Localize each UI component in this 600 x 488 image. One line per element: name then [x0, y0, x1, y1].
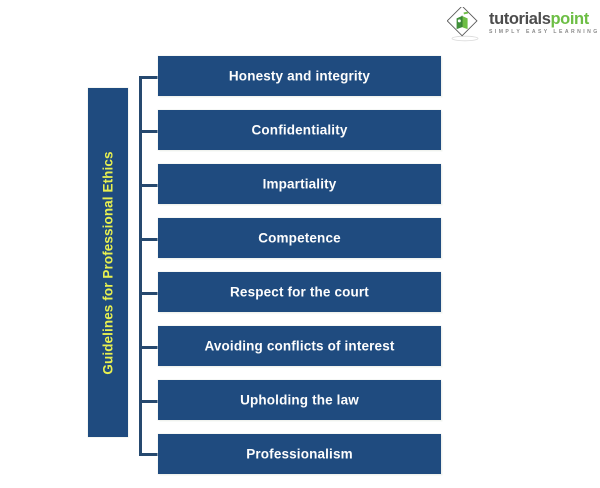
category-bar: Guidelines for Professional Ethics	[88, 88, 128, 437]
connector-stub	[139, 346, 159, 349]
guideline-list: Honesty and integrity Confidentiality Im…	[158, 56, 441, 488]
diamond-book-icon	[447, 7, 483, 43]
guideline-item[interactable]: Avoiding conflicts of interest	[158, 326, 441, 366]
guideline-item[interactable]: Professionalism	[158, 434, 441, 474]
logo-tagline: SIMPLY EASY LEARNING	[489, 28, 595, 36]
logo-wordmark-text: tutorialspoint	[489, 11, 595, 28]
guideline-item-label: Upholding the law	[158, 393, 441, 408]
connector-stub	[139, 453, 159, 456]
connector-stub	[139, 130, 159, 133]
logo-word-tutorials: tutorials	[489, 10, 551, 28]
guideline-item-label: Avoiding conflicts of interest	[158, 339, 441, 354]
guideline-item[interactable]: Honesty and integrity	[158, 56, 441, 96]
category-bar-label: Guidelines for Professional Ethics	[101, 151, 116, 374]
connector-stub	[139, 76, 159, 79]
logo-word-point: point	[551, 10, 589, 28]
connector-stub	[139, 400, 159, 403]
guideline-item-label: Professionalism	[158, 447, 441, 462]
guideline-item-label: Confidentiality	[158, 123, 441, 138]
guideline-item-label: Competence	[158, 231, 441, 246]
tutorialspoint-logo: tutorialspoint SIMPLY EASY LEARNING	[447, 6, 595, 44]
connector-stub	[139, 184, 159, 187]
guideline-item-label: Impartiality	[158, 177, 441, 192]
bracket-connector	[139, 76, 159, 456]
guideline-item[interactable]: Upholding the law	[158, 380, 441, 420]
logo-wordmark: tutorialspoint SIMPLY EASY LEARNING	[489, 11, 595, 36]
guideline-item[interactable]: Competence	[158, 218, 441, 258]
guideline-item[interactable]: Respect for the court	[158, 272, 441, 312]
guideline-item[interactable]: Impartiality	[158, 164, 441, 204]
connector-spine	[139, 76, 142, 456]
guideline-item[interactable]: Confidentiality	[158, 110, 441, 150]
guideline-item-label: Respect for the court	[158, 285, 441, 300]
connector-stub	[139, 292, 159, 295]
guideline-item-label: Honesty and integrity	[158, 69, 441, 84]
connector-stub	[139, 238, 159, 241]
